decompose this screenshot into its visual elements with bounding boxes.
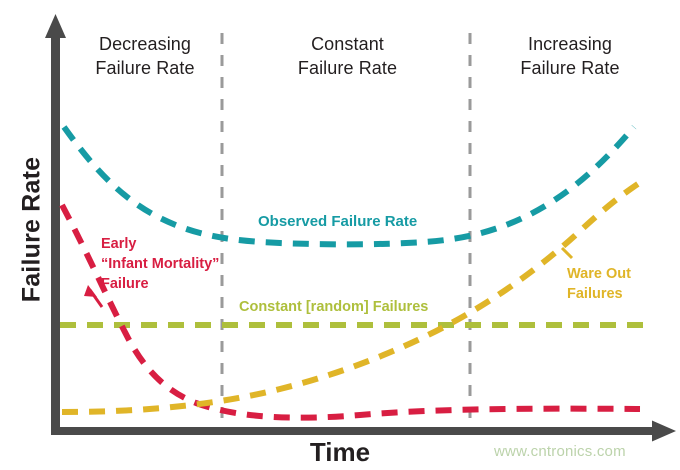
series-label-observed-failure-rate: Observed Failure Rate <box>258 212 417 231</box>
series-label-constant-random-failures: Constant [random] Failures <box>239 298 428 317</box>
early-label-arrowhead <box>84 285 97 297</box>
x-axis-title: Time <box>280 437 400 468</box>
watermark-text: www.cntronics.com <box>494 443 626 460</box>
y-axis-title: Failure Rate <box>18 135 47 325</box>
region-title-constant: Constant Failure Rate <box>240 32 455 80</box>
region-title-increasing: Increasing Failure Rate <box>480 32 660 80</box>
x-axis-line <box>51 427 658 435</box>
chart-container: Decreasing Failure Rate Constant Failure… <box>0 0 680 470</box>
x-axis-arrowhead <box>652 421 676 442</box>
series-label-early-infant-mortality-failure: Early “Infant Mortality” Failure <box>101 234 219 294</box>
y-axis-arrowhead <box>45 14 66 38</box>
series-label-ware-out-failures: Ware Out Failures <box>567 264 631 304</box>
y-axis-line <box>51 32 60 434</box>
region-title-decreasing: Decreasing Failure Rate <box>70 32 220 80</box>
wearout-label-pointer <box>562 248 572 258</box>
